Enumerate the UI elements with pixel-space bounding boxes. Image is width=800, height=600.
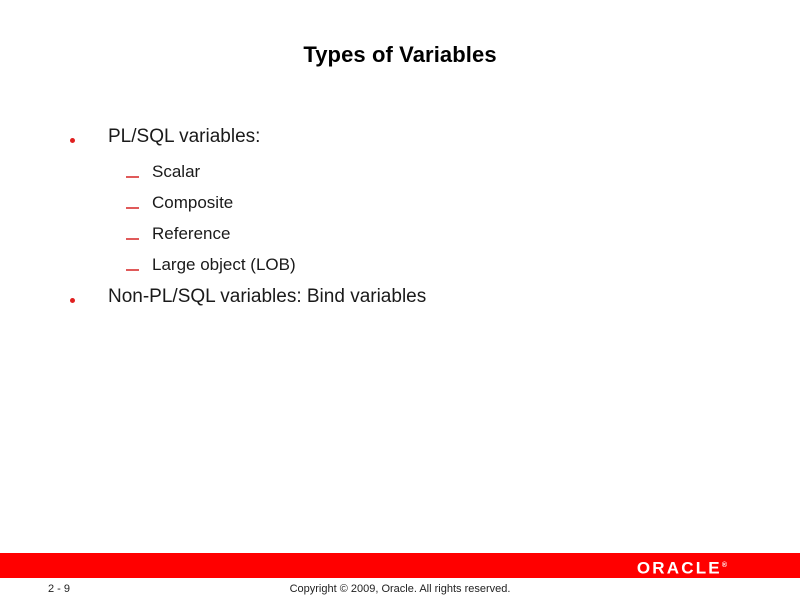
list-item: Composite [0, 193, 800, 224]
list-item: Reference [0, 224, 800, 255]
oracle-logo-trademark: ® [722, 562, 727, 569]
bullet-dot-icon [70, 138, 75, 143]
list-item: Scalar [0, 162, 800, 193]
bullet-list: PL/SQL variables: Scalar Composite Refer… [0, 126, 800, 322]
footer-copyright: Copyright © 2009, Oracle. All rights res… [0, 583, 800, 595]
bullet-dash-icon [126, 176, 139, 178]
list-item-label: Scalar [152, 162, 200, 182]
list-item: Large object (LOB) [0, 255, 800, 286]
list-item-label: PL/SQL variables: [108, 126, 260, 148]
bullet-dash-icon [126, 207, 139, 209]
bullet-dot-icon [70, 298, 75, 303]
bullet-dash-icon [126, 238, 139, 240]
oracle-logo-text: ORACLE [637, 559, 722, 578]
list-item: Non-PL/SQL variables: Bind variables [0, 286, 800, 322]
slide-canvas: Types of Variables PL/SQL variables: Sca… [0, 0, 800, 600]
list-item-label: Reference [152, 224, 230, 244]
list-item-label: Large object (LOB) [152, 255, 296, 275]
page-title: Types of Variables [0, 42, 800, 68]
list-item-label: Composite [152, 193, 233, 213]
list-item: PL/SQL variables: [0, 126, 800, 162]
list-item-label: Non-PL/SQL variables: Bind variables [108, 286, 426, 308]
bullet-dash-icon [126, 269, 139, 271]
oracle-logo: ORACLE® [637, 556, 727, 578]
